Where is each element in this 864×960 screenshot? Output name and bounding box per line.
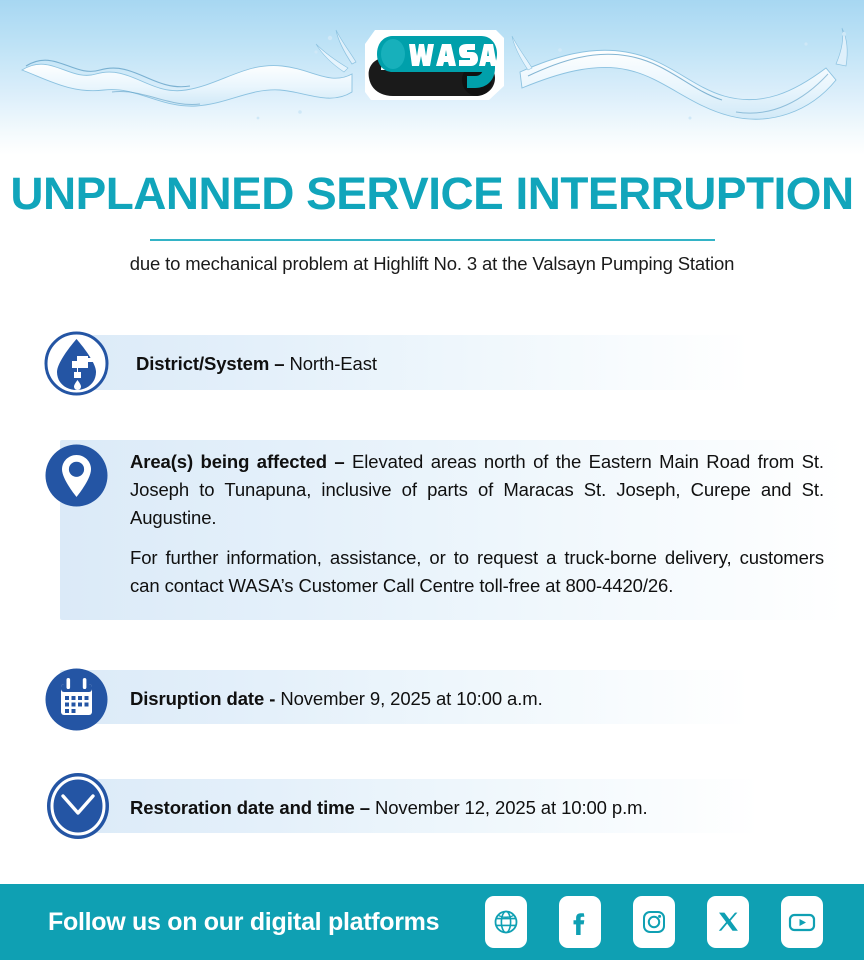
youtube-icon[interactable] xyxy=(781,896,823,948)
service-interruption-notice: UNPLANNED SERVICE INTERRUPTION due to me… xyxy=(0,0,864,960)
row-text-restoration: Restoration date and time – November 12,… xyxy=(130,794,750,822)
instagram-icon[interactable] xyxy=(633,896,675,948)
website-icon[interactable] xyxy=(485,896,527,948)
clock-icon xyxy=(44,772,112,840)
area-paragraph-contact: For further information, assistance, or … xyxy=(130,544,824,600)
row-value-restoration: November 12, 2025 at 10:00 p.m. xyxy=(375,797,648,818)
area-paragraph-primary: Area(s) being affected – Elevated areas … xyxy=(130,448,824,532)
row-text-area-affected: Area(s) being affected – Elevated areas … xyxy=(130,448,824,600)
footer-follow-text: Follow us on our digital platforms xyxy=(48,908,439,937)
header-banner xyxy=(0,0,864,155)
social-links xyxy=(485,896,823,948)
facebook-icon[interactable] xyxy=(559,896,601,948)
location-pin-icon xyxy=(44,443,109,508)
row-text-disruption: Disruption date - November 9, 2025 at 10… xyxy=(130,685,730,713)
row-label-district: District/System – xyxy=(136,353,289,374)
row-value-disruption: November 9, 2025 at 10:00 a.m. xyxy=(280,688,542,709)
water-drop-tap-icon xyxy=(44,331,109,396)
x-twitter-icon[interactable] xyxy=(707,896,749,948)
title-divider xyxy=(150,239,715,241)
wasa-logo xyxy=(363,24,508,106)
footer-bar: Follow us on our digital platforms xyxy=(0,884,864,960)
calendar-icon xyxy=(44,667,109,732)
page-title: UNPLANNED SERVICE INTERRUPTION xyxy=(0,168,864,220)
row-value-district: North-East xyxy=(289,353,376,374)
page-subtitle: due to mechanical problem at Highlift No… xyxy=(0,253,864,275)
row-text-district: District/System – North-East xyxy=(136,350,736,378)
